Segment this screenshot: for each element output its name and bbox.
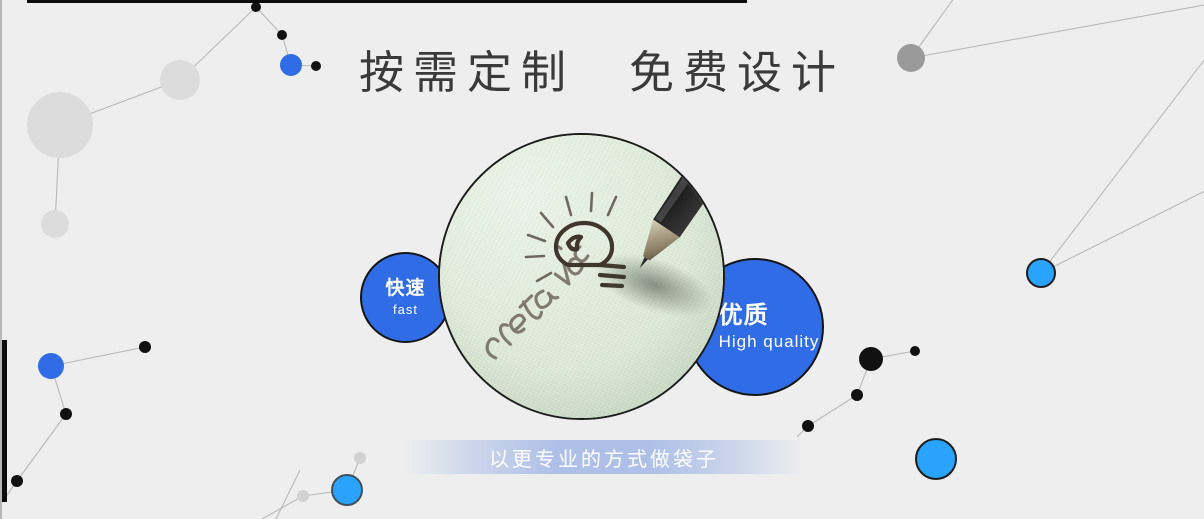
network-edge: [808, 395, 857, 426]
tagline-ribbon: 以更专业的方式做袋子: [404, 440, 804, 474]
promo-banner: 按需定制 免费设计 快速 fast: [0, 0, 1204, 519]
node-black-top-a: [251, 2, 261, 12]
feature-quality-label-en: High quality: [719, 331, 820, 354]
network-edge: [871, 351, 915, 359]
creative-photo-circle: [438, 133, 725, 420]
feature-fast-label-cn: 快速: [385, 277, 425, 301]
node-black-right-a: [910, 346, 920, 356]
photo-vignette: [440, 135, 723, 418]
node-cyan-bottom-mid: [332, 475, 362, 505]
network-edge: [262, 496, 303, 519]
feature-fast-label-en: fast: [393, 301, 418, 319]
top-edge-rule: [27, 0, 747, 3]
node-black-left-c: [11, 475, 23, 487]
node-black-left-b: [60, 408, 72, 420]
node-gray-bottom-a: [354, 452, 366, 464]
headline: 按需定制 免费设计: [0, 47, 1204, 99]
network-edge: [17, 414, 66, 481]
node-black-right-c: [802, 420, 814, 432]
network-edge: [1041, 186, 1204, 273]
feature-quality-label-cn: 优质: [719, 301, 820, 331]
node-black-right-b: [851, 389, 863, 401]
network-edge: [256, 7, 282, 35]
left-black-bar: [2, 340, 7, 502]
network-edge: [857, 359, 871, 395]
network-edge: [51, 347, 145, 366]
node-black-big-right: [859, 347, 883, 371]
node-cyan-right: [1027, 259, 1055, 287]
network-edge: [303, 490, 347, 496]
node-black-left-a: [139, 341, 151, 353]
node-gray-small-left: [41, 210, 69, 238]
network-edge: [51, 366, 66, 414]
node-gray-large-left: [27, 92, 93, 158]
tagline-text: 以更专业的方式做袋子: [489, 443, 719, 472]
network-edge: [347, 458, 360, 490]
node-black-top-b: [277, 30, 287, 40]
node-cyan-bottom-right: [916, 439, 956, 479]
network-edge: [276, 470, 300, 519]
node-gray-bottom-b: [297, 490, 309, 502]
network-edge: [797, 426, 808, 437]
node-blue-left: [38, 353, 64, 379]
network-edge: [55, 125, 60, 224]
